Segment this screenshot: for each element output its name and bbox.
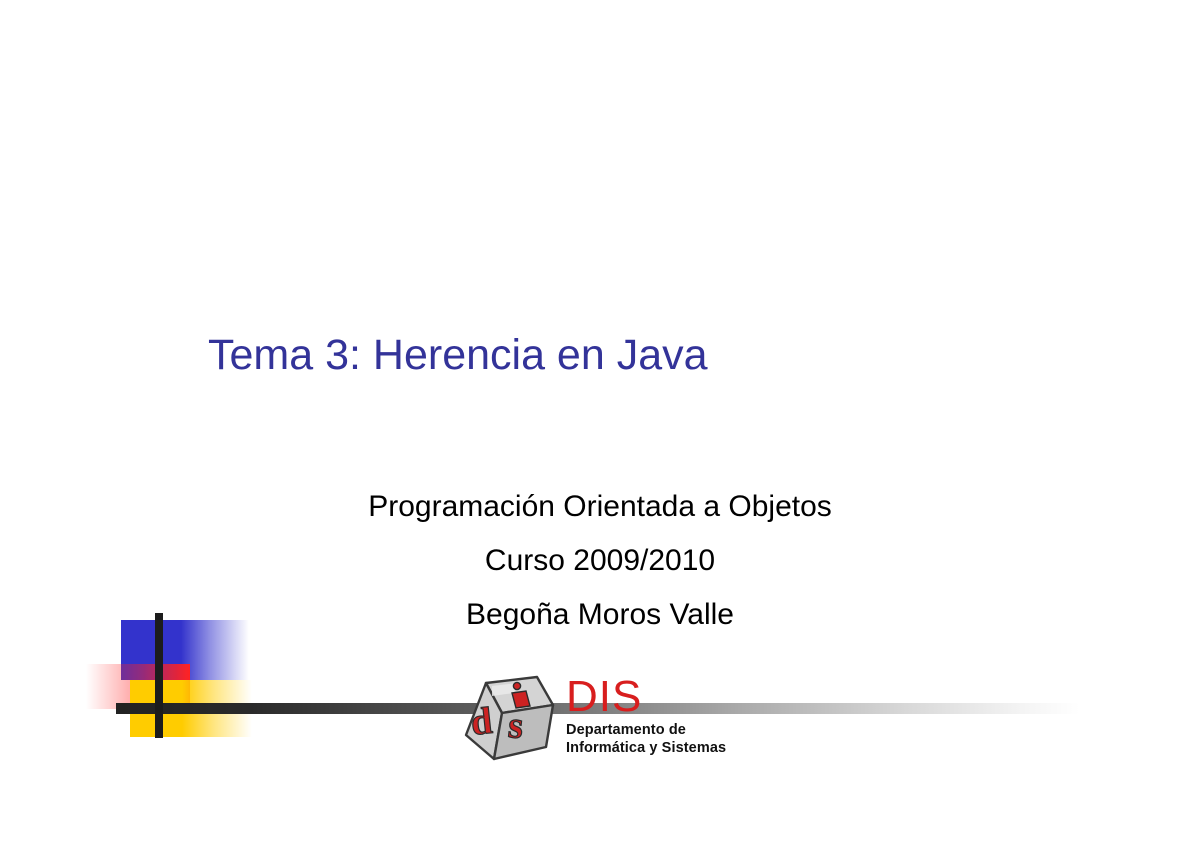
- dis-caption-line-2: Informática y Sistemas: [566, 740, 746, 758]
- svg-text:d: d: [469, 700, 494, 744]
- dis-logo: d s DIS Departamento de Informática y Si…: [458, 673, 743, 773]
- subtitle-line-author: Begoña Moros Valle: [0, 595, 1200, 635]
- subtitle-line-academic-year: Curso 2009/2010: [0, 541, 1200, 581]
- dis-logo-text: DIS Departamento de Informática y Sistem…: [566, 675, 746, 757]
- slide-subtitle: Programación Orientada a Objetos Curso 2…: [0, 487, 1200, 635]
- dis-caption-line-1: Departamento de: [566, 722, 746, 740]
- title-slide: Tema 3: Herencia en Java Programación Or…: [0, 0, 1200, 848]
- subtitle-line-course-name: Programación Orientada a Objetos: [0, 487, 1200, 527]
- dis-wordmark: DIS: [566, 675, 746, 719]
- slide-title: Tema 3: Herencia en Java: [208, 329, 708, 381]
- dis-cube-icon: d s: [458, 673, 558, 769]
